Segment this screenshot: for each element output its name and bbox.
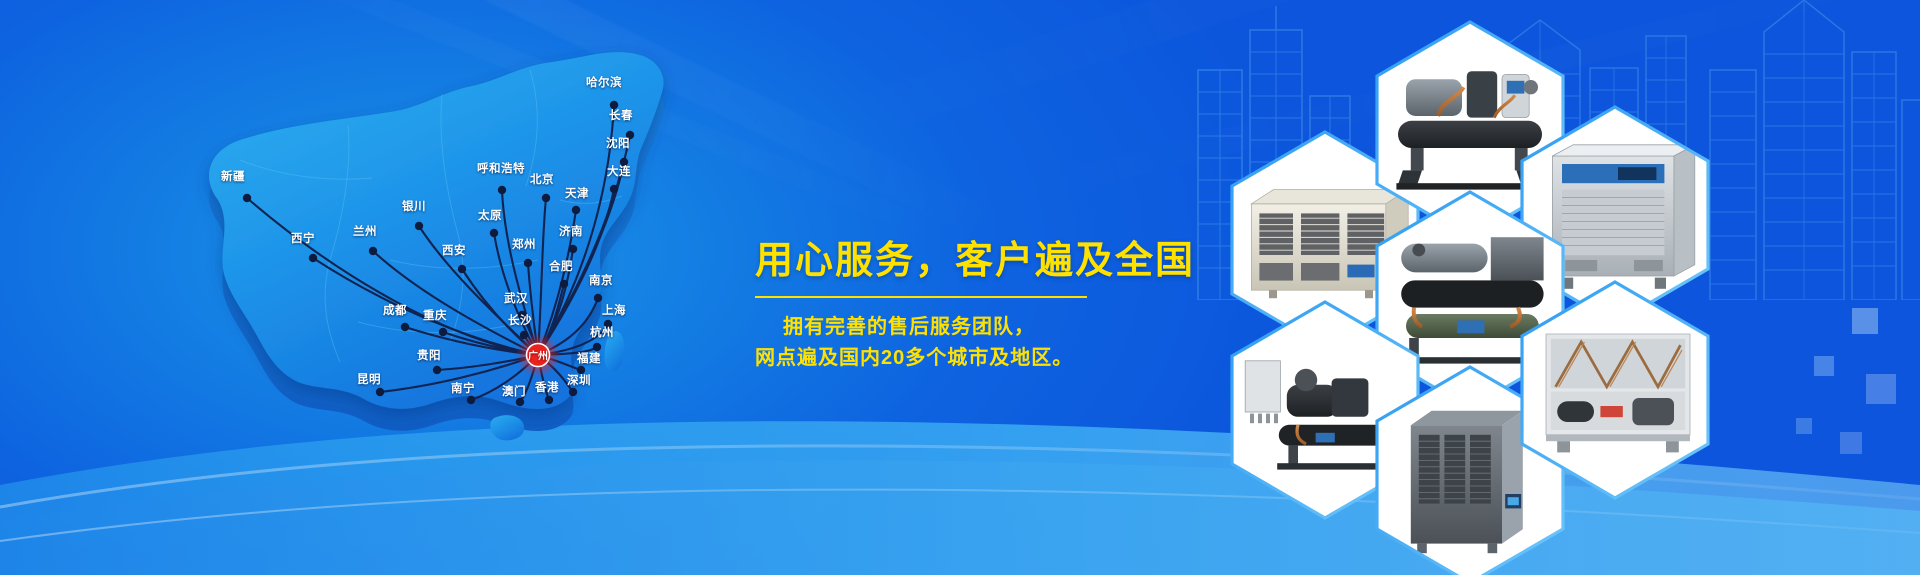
hub-marker-guangzhou [516,333,560,377]
subtitle-line-1: 拥有完善的售后服务团队， [755,312,1155,343]
subtitle-line-2: 网点遍及国内20多个城市及地区。 [755,343,1155,374]
headline: 用心服务，客户遍及全国 [755,240,1155,284]
china-distribution-map: 哈尔滨长春沈阳大连北京天津呼和浩特新疆银川太原兰州西宁西安郑州济南合肥南京上海杭… [90,10,750,440]
headline-divider [755,296,1087,298]
promo-text-block: 用心服务，客户遍及全国 拥有完善的售后服务团队， 网点遍及国内20多个城市及地区… [755,240,1155,374]
promo-banner: 哈尔滨长春沈阳大连北京天津呼和浩特新疆银川太原兰州西宁西安郑州济南合肥南京上海杭… [0,0,1920,575]
product-hexagon-grid [1150,0,1920,575]
